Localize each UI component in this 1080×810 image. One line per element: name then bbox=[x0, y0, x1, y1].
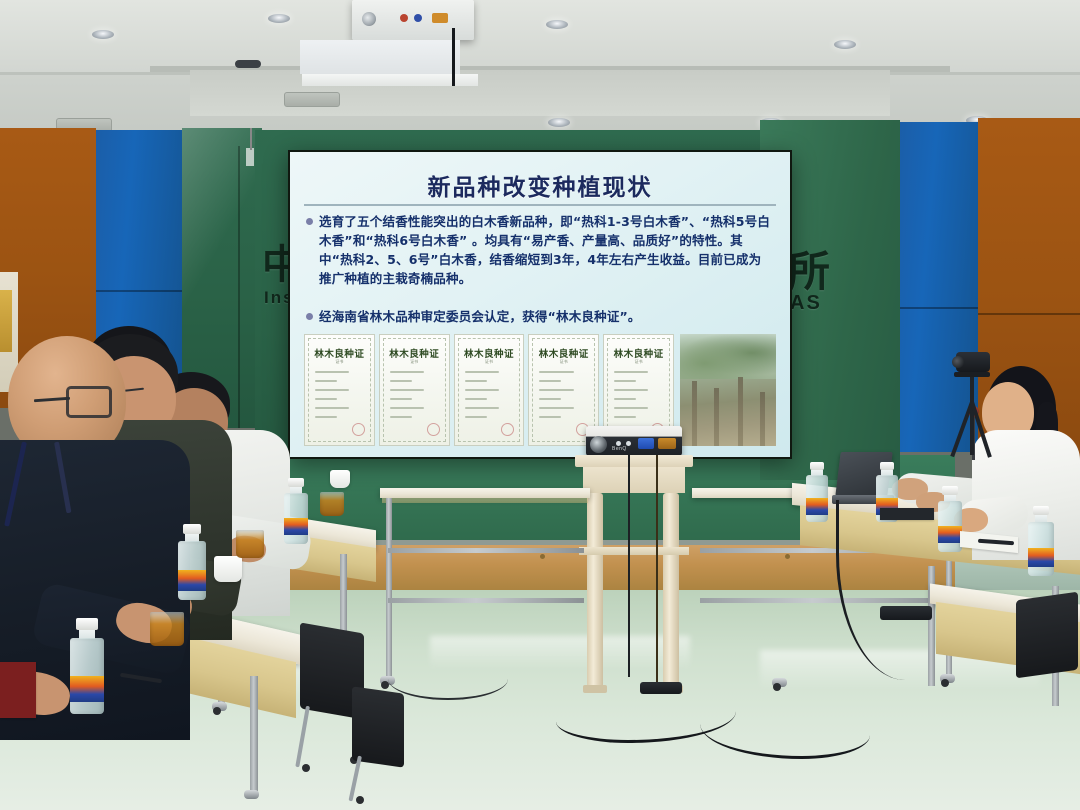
certificate-image: 林木良种证 证书 bbox=[454, 334, 525, 446]
table-apron bbox=[382, 498, 588, 503]
projector-indicator-icon bbox=[400, 14, 408, 22]
projector-indicator-icon bbox=[414, 14, 422, 22]
ceiling-speaker-icon bbox=[235, 60, 261, 68]
photo-tree-trunk bbox=[738, 377, 743, 446]
certificate-title: 林木良种证 bbox=[455, 346, 524, 360]
stand-shelf bbox=[579, 547, 689, 555]
water-bottle[interactable] bbox=[178, 524, 206, 600]
bottle-label bbox=[284, 518, 308, 535]
projector-cable bbox=[656, 455, 658, 687]
eyeglasses-icon bbox=[66, 386, 112, 418]
slide-bullet-1-text: 选育了五个结香性能突出的白木香新品种，即“热科1-3号白木香”、“热科5号白木香… bbox=[319, 212, 774, 288]
photo-canopy bbox=[680, 334, 776, 379]
floor-cable bbox=[388, 658, 508, 700]
camera-lens-icon bbox=[952, 356, 964, 368]
ceiling-upper-slab bbox=[0, 0, 1080, 75]
certificate-title: 林木良种证 bbox=[529, 346, 598, 360]
panel-seam bbox=[978, 313, 1080, 315]
bottle-cap bbox=[880, 462, 894, 470]
photo-tree-trunk bbox=[714, 388, 719, 446]
water-bottle[interactable] bbox=[1028, 506, 1054, 576]
certificate-seal-icon bbox=[427, 423, 440, 436]
tea-glass[interactable] bbox=[236, 530, 264, 558]
chair-backrest[interactable] bbox=[1016, 592, 1078, 679]
stand-column bbox=[587, 493, 603, 688]
bullet-dot-icon bbox=[306, 218, 313, 225]
ceiling-projector bbox=[352, 0, 474, 40]
projector-lens-icon bbox=[590, 436, 607, 453]
bottle-cap bbox=[1033, 506, 1049, 515]
video-camera-rig bbox=[952, 352, 992, 462]
bullet-dot-icon bbox=[306, 313, 313, 320]
stand-column bbox=[663, 493, 679, 688]
certificate-image: 林木良种证 证书 bbox=[379, 334, 450, 446]
slide-bullet-2: 经海南省林木品种审定委员会认定，获得“林木良种证”。 bbox=[306, 307, 774, 326]
certificate-subtitle: 证书 bbox=[455, 359, 524, 365]
bottle-cap bbox=[810, 462, 824, 470]
glass-panel-edge bbox=[238, 146, 240, 428]
bottle-cap bbox=[288, 478, 304, 487]
panel-seam bbox=[96, 290, 182, 292]
slide-title-rule bbox=[304, 204, 776, 206]
projector-cable bbox=[628, 455, 630, 677]
table-crossbar bbox=[388, 548, 584, 553]
certificate-fields bbox=[539, 371, 588, 425]
certificate-fields bbox=[614, 371, 663, 425]
stand-neck bbox=[583, 467, 685, 493]
water-bottle[interactable] bbox=[284, 478, 308, 544]
caster-wheel-icon bbox=[941, 679, 949, 687]
tea-glass[interactable] bbox=[320, 492, 344, 516]
bottle-label bbox=[1028, 548, 1054, 567]
certificate-subtitle: 证书 bbox=[380, 359, 449, 365]
projector-port-icon bbox=[638, 438, 654, 449]
tripod-leg bbox=[970, 377, 974, 455]
photo-tree-trunk bbox=[692, 381, 697, 446]
paper-cup[interactable] bbox=[214, 556, 242, 582]
slide-bullet-2-text: 经海南省林木品种审定委员会认定，获得“林木良种证”。 bbox=[319, 307, 641, 326]
power-strip[interactable] bbox=[880, 606, 932, 620]
wainscot-screw bbox=[540, 554, 545, 559]
wall-text-right-latin: AS bbox=[790, 292, 822, 315]
table-caster bbox=[244, 790, 259, 799]
projection-screen: 新品种改变种植现状 选育了五个结香性能突出的白木香新品种，即“热科1-3号白木香… bbox=[288, 150, 792, 459]
hanger-wire bbox=[250, 128, 252, 150]
water-bottle[interactable] bbox=[70, 618, 104, 714]
table-crossbar bbox=[388, 598, 584, 603]
slide-title: 新品种改变种植现状 bbox=[290, 168, 790, 202]
certificate-title: 林木良种证 bbox=[305, 346, 374, 360]
certificate-subtitle: 证书 bbox=[529, 359, 598, 365]
wall-text-right-character: 所 bbox=[788, 238, 832, 299]
downlight-icon bbox=[548, 118, 570, 127]
certificate-title: 林木良种证 bbox=[380, 346, 449, 360]
certificate-fields bbox=[465, 371, 514, 425]
notebook[interactable] bbox=[0, 662, 36, 718]
water-bottle[interactable] bbox=[938, 486, 962, 552]
conference-room-scene: 中 Ins 所 AS 新品种改变种植现状 选育了五个结香性能突出的白木香新品种，… bbox=[0, 0, 1080, 810]
caster-wheel-icon bbox=[773, 683, 781, 691]
certificate-seal-icon bbox=[352, 423, 365, 436]
certificate-subtitle: 证书 bbox=[305, 359, 374, 365]
tabletop bbox=[380, 488, 590, 498]
wall-notice-board bbox=[0, 290, 12, 352]
projector-stand bbox=[575, 455, 693, 693]
panel-seam bbox=[900, 307, 978, 309]
bottle-cap bbox=[76, 618, 98, 630]
certificate-fields bbox=[315, 371, 364, 425]
ceiling-hanger-tag bbox=[246, 148, 254, 166]
bottle-cap bbox=[183, 524, 201, 534]
bottle-label bbox=[806, 498, 828, 515]
stand-top bbox=[575, 455, 693, 467]
ceiling-projector-lens-icon bbox=[362, 12, 376, 26]
downlight-icon bbox=[546, 20, 568, 29]
wainscot-screw bbox=[785, 554, 790, 559]
caster-wheel-icon bbox=[213, 707, 221, 715]
certificate-image: 林木良种证 证书 bbox=[304, 334, 375, 446]
bottle-label bbox=[70, 676, 104, 702]
tea-glass[interactable] bbox=[150, 612, 184, 646]
chair-caster-icon bbox=[356, 796, 364, 804]
projector-mount-bracket bbox=[300, 40, 460, 74]
downlight-icon bbox=[834, 40, 856, 49]
projector-brand-label: BenQ bbox=[612, 446, 627, 452]
projector-benq: BenQ bbox=[586, 426, 682, 456]
bottle-label bbox=[938, 526, 962, 543]
slide: 新品种改变种植现状 选育了五个结香性能突出的白木香新品种，即“热科1-3号白木香… bbox=[290, 152, 790, 457]
certificate-fields bbox=[390, 371, 439, 425]
projector-port-icon bbox=[432, 13, 448, 23]
certificate-title: 林木良种证 bbox=[604, 346, 673, 360]
certificate-seal-icon bbox=[501, 423, 514, 436]
air-vent-icon bbox=[284, 92, 340, 107]
downlight-icon bbox=[268, 14, 290, 23]
table-leg bbox=[250, 676, 258, 796]
photo-tree-trunk bbox=[760, 392, 765, 446]
bottle-label bbox=[178, 570, 206, 591]
bottle-cap bbox=[942, 486, 958, 495]
water-bottle[interactable] bbox=[806, 462, 828, 522]
slide-bullet-1: 选育了五个结香性能突出的白木香新品种，即“热科1-3号白木香”、“热科5号白木香… bbox=[306, 212, 774, 288]
phone[interactable] bbox=[880, 508, 934, 520]
projector-power-cable bbox=[452, 28, 455, 86]
downlight-icon bbox=[92, 30, 114, 39]
power-strip[interactable] bbox=[640, 682, 682, 694]
plantation-photo bbox=[680, 334, 776, 446]
certificate-subtitle: 证书 bbox=[604, 359, 673, 365]
bottle-neck bbox=[1035, 515, 1047, 522]
projector-port-icon bbox=[658, 438, 676, 449]
paper-cup[interactable] bbox=[330, 470, 350, 488]
chair-caster-icon bbox=[302, 764, 310, 772]
table-leg bbox=[386, 498, 392, 678]
